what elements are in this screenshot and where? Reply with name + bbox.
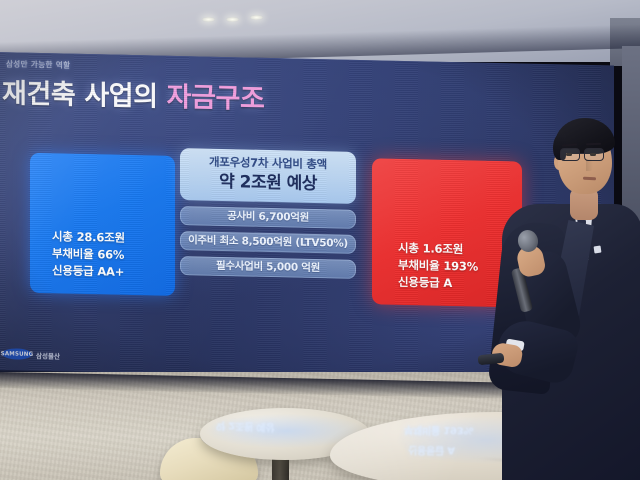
- mouth: [583, 177, 596, 181]
- cost-item-pill: 필수사업비 5,000 억원: [180, 256, 356, 279]
- slide-title-primary: 재건축 사업의: [2, 78, 158, 112]
- blue-company-card: 시총 28.6조원 부채비율 66% 신용등급 AA+: [30, 153, 175, 296]
- ceiling-downlight-icon: [202, 17, 215, 22]
- slide-title-highlight: 자금구조: [167, 82, 265, 115]
- project-total-hero: 개포우성7차 사업비 총액 약 2조원 예상: [180, 148, 356, 204]
- blue-card-line: 신용등급 AA+: [30, 262, 175, 282]
- eyeglasses-icon: [560, 148, 610, 161]
- presentation-photo-scene: 삼성만 가능한 역할 재건축 사업의 자금구조 시총 28.6조원 부채비율 6…: [0, 0, 640, 480]
- nose: [586, 159, 593, 171]
- lapel-pin-icon: [594, 246, 602, 254]
- lens-left: [560, 148, 580, 161]
- cost-item-pill: 이주비 최소 8,500억원 (LTV50%): [180, 231, 356, 254]
- project-total-headline: 약 2조원 예상: [186, 170, 350, 196]
- samsung-korean-label: 삼성물산: [36, 349, 60, 360]
- cost-item-pill: 공사비 6,700억원: [180, 206, 356, 229]
- ceiling-downlight-icon: [250, 15, 263, 20]
- slide-eyebrow: 삼성만 가능한 역할: [6, 58, 70, 70]
- slide-title: 재건축 사업의 자금구조: [2, 71, 264, 116]
- center-cost-stack: 개포우성7차 사업비 총액 약 2조원 예상 공사비 6,700억원 이주비 최…: [180, 148, 356, 279]
- presenter: [494, 96, 640, 480]
- samsung-logo: SAMSUNG 삼성물산: [2, 348, 60, 360]
- samsung-wordmark: SAMSUNG: [1, 350, 34, 357]
- ceiling-downlight-icon: [226, 17, 239, 22]
- samsung-oval-mark-icon: SAMSUNG: [2, 348, 32, 360]
